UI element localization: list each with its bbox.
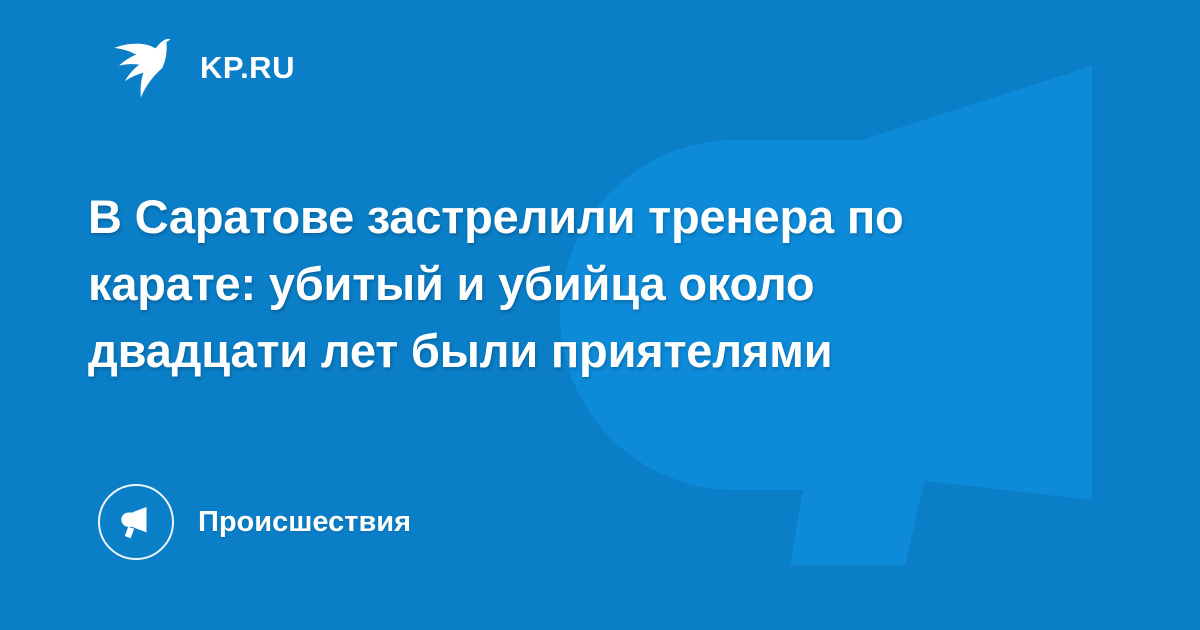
category-badge[interactable]: Происшествия bbox=[98, 484, 411, 560]
category-label: Происшествия bbox=[198, 508, 411, 537]
headline-title: В Саратове застрелили тренера по карате:… bbox=[88, 183, 1040, 384]
megaphone-icon bbox=[116, 502, 156, 542]
brand-name: KP.RU bbox=[200, 52, 295, 83]
swallow-bird-icon bbox=[108, 36, 178, 98]
share-card: KP.RU В Саратове застрелили тренера по к… bbox=[0, 0, 1200, 630]
brand-logo[interactable]: KP.RU bbox=[108, 36, 295, 98]
category-icon-circle bbox=[98, 484, 174, 560]
